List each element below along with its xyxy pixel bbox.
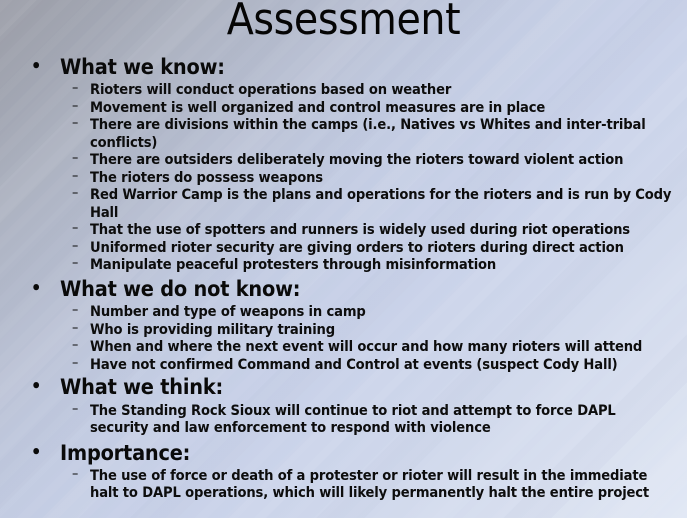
bullet-icon: • bbox=[31, 55, 41, 79]
section-heading-label: What we do not know: bbox=[60, 277, 300, 302]
section-importance: • Importance: – The use of force or deat… bbox=[0, 441, 687, 502]
section-what-we-do-not-know: • What we do not know: – Number and type… bbox=[0, 277, 687, 373]
dash-icon: – bbox=[72, 355, 78, 372]
section-heading: • What we do not know: bbox=[0, 277, 687, 302]
list-item: – Manipulate peaceful protesters through… bbox=[0, 256, 687, 274]
section-what-we-think: • What we think: – The Standing Rock Sio… bbox=[0, 375, 687, 436]
list-item: – Movement is well organized and control… bbox=[0, 99, 687, 117]
dash-icon: – bbox=[72, 98, 78, 115]
list-item-label: Uniformed rioter security are giving ord… bbox=[90, 239, 624, 256]
section-heading: • What we know: bbox=[0, 55, 687, 80]
dash-icon: – bbox=[72, 466, 78, 483]
dash-icon: – bbox=[72, 320, 78, 337]
list-item: – Have not confirmed Command and Control… bbox=[0, 356, 687, 374]
list-item: – There are divisions within the camps (… bbox=[0, 116, 687, 151]
list-item-label: The Standing Rock Sioux will continue to… bbox=[90, 402, 616, 437]
list-item-label: That the use of spotters and runners is … bbox=[90, 221, 630, 238]
dash-icon: – bbox=[72, 80, 78, 97]
dash-icon: – bbox=[72, 115, 78, 132]
section-heading-label: What we think: bbox=[60, 375, 223, 400]
list-item: – The use of force or death of a protest… bbox=[0, 467, 687, 502]
section-heading-label: Importance: bbox=[60, 441, 190, 466]
list-item: – Red Warrior Camp is the plans and oper… bbox=[0, 186, 687, 221]
list-item: – Rioters will conduct operations based … bbox=[0, 81, 687, 99]
list-item: – When and where the next event will occ… bbox=[0, 338, 687, 356]
list-item: – That the use of spotters and runners i… bbox=[0, 221, 687, 239]
section-what-we-know: • What we know: – Rioters will conduct o… bbox=[0, 55, 687, 274]
list-item: – Uniformed rioter security are giving o… bbox=[0, 239, 687, 257]
list-item-label: There are divisions within the camps (i.… bbox=[90, 116, 646, 151]
list-item: – There are outsiders deliberately movin… bbox=[0, 151, 687, 169]
list-item-label: The use of force or death of a protester… bbox=[90, 467, 649, 502]
section-items: – Rioters will conduct operations based … bbox=[0, 81, 687, 274]
dash-icon: – bbox=[72, 168, 78, 185]
dash-icon: – bbox=[72, 255, 78, 272]
dash-icon: – bbox=[72, 337, 78, 354]
dash-icon: – bbox=[72, 302, 78, 319]
list-item-label: Red Warrior Camp is the plans and operat… bbox=[90, 186, 671, 221]
list-item-label: Movement is well organized and control m… bbox=[90, 99, 545, 116]
list-item-label: There are outsiders deliberately moving … bbox=[90, 151, 623, 168]
list-item-label: Rioters will conduct operations based on… bbox=[90, 81, 451, 98]
section-items: – The use of force or death of a protest… bbox=[0, 467, 687, 502]
list-item: – The rioters do possess weapons bbox=[0, 169, 687, 187]
list-item: – Who is providing military training bbox=[0, 321, 687, 339]
list-item: – Number and type of weapons in camp bbox=[0, 303, 687, 321]
bullet-icon: • bbox=[31, 441, 41, 465]
list-item-label: Manipulate peaceful protesters through m… bbox=[90, 256, 496, 273]
slide-canvas: Assessment • What we know: – Rioters wil… bbox=[0, 0, 687, 518]
dash-icon: – bbox=[72, 238, 78, 255]
section-heading: • Importance: bbox=[0, 441, 687, 466]
dash-icon: – bbox=[72, 401, 78, 418]
dash-icon: – bbox=[72, 220, 78, 237]
section-items: – Number and type of weapons in camp – W… bbox=[0, 303, 687, 373]
list-item: – The Standing Rock Sioux will continue … bbox=[0, 402, 687, 437]
list-item-label: Have not confirmed Command and Control a… bbox=[90, 356, 618, 373]
dash-icon: – bbox=[72, 150, 78, 167]
list-item-label: When and where the next event will occur… bbox=[90, 338, 642, 355]
dash-icon: – bbox=[72, 185, 78, 202]
slide-title: Assessment bbox=[0, 0, 687, 42]
section-heading: • What we think: bbox=[0, 375, 687, 400]
bullet-icon: • bbox=[31, 375, 41, 399]
section-items: – The Standing Rock Sioux will continue … bbox=[0, 402, 687, 437]
list-item-label: Number and type of weapons in camp bbox=[90, 303, 366, 320]
bullet-icon: • bbox=[31, 277, 41, 301]
list-item-label: Who is providing military training bbox=[90, 321, 335, 338]
section-heading-label: What we know: bbox=[60, 55, 225, 80]
slide-body: • What we know: – Rioters will conduct o… bbox=[0, 55, 687, 502]
list-item-label: The rioters do possess weapons bbox=[90, 169, 323, 186]
